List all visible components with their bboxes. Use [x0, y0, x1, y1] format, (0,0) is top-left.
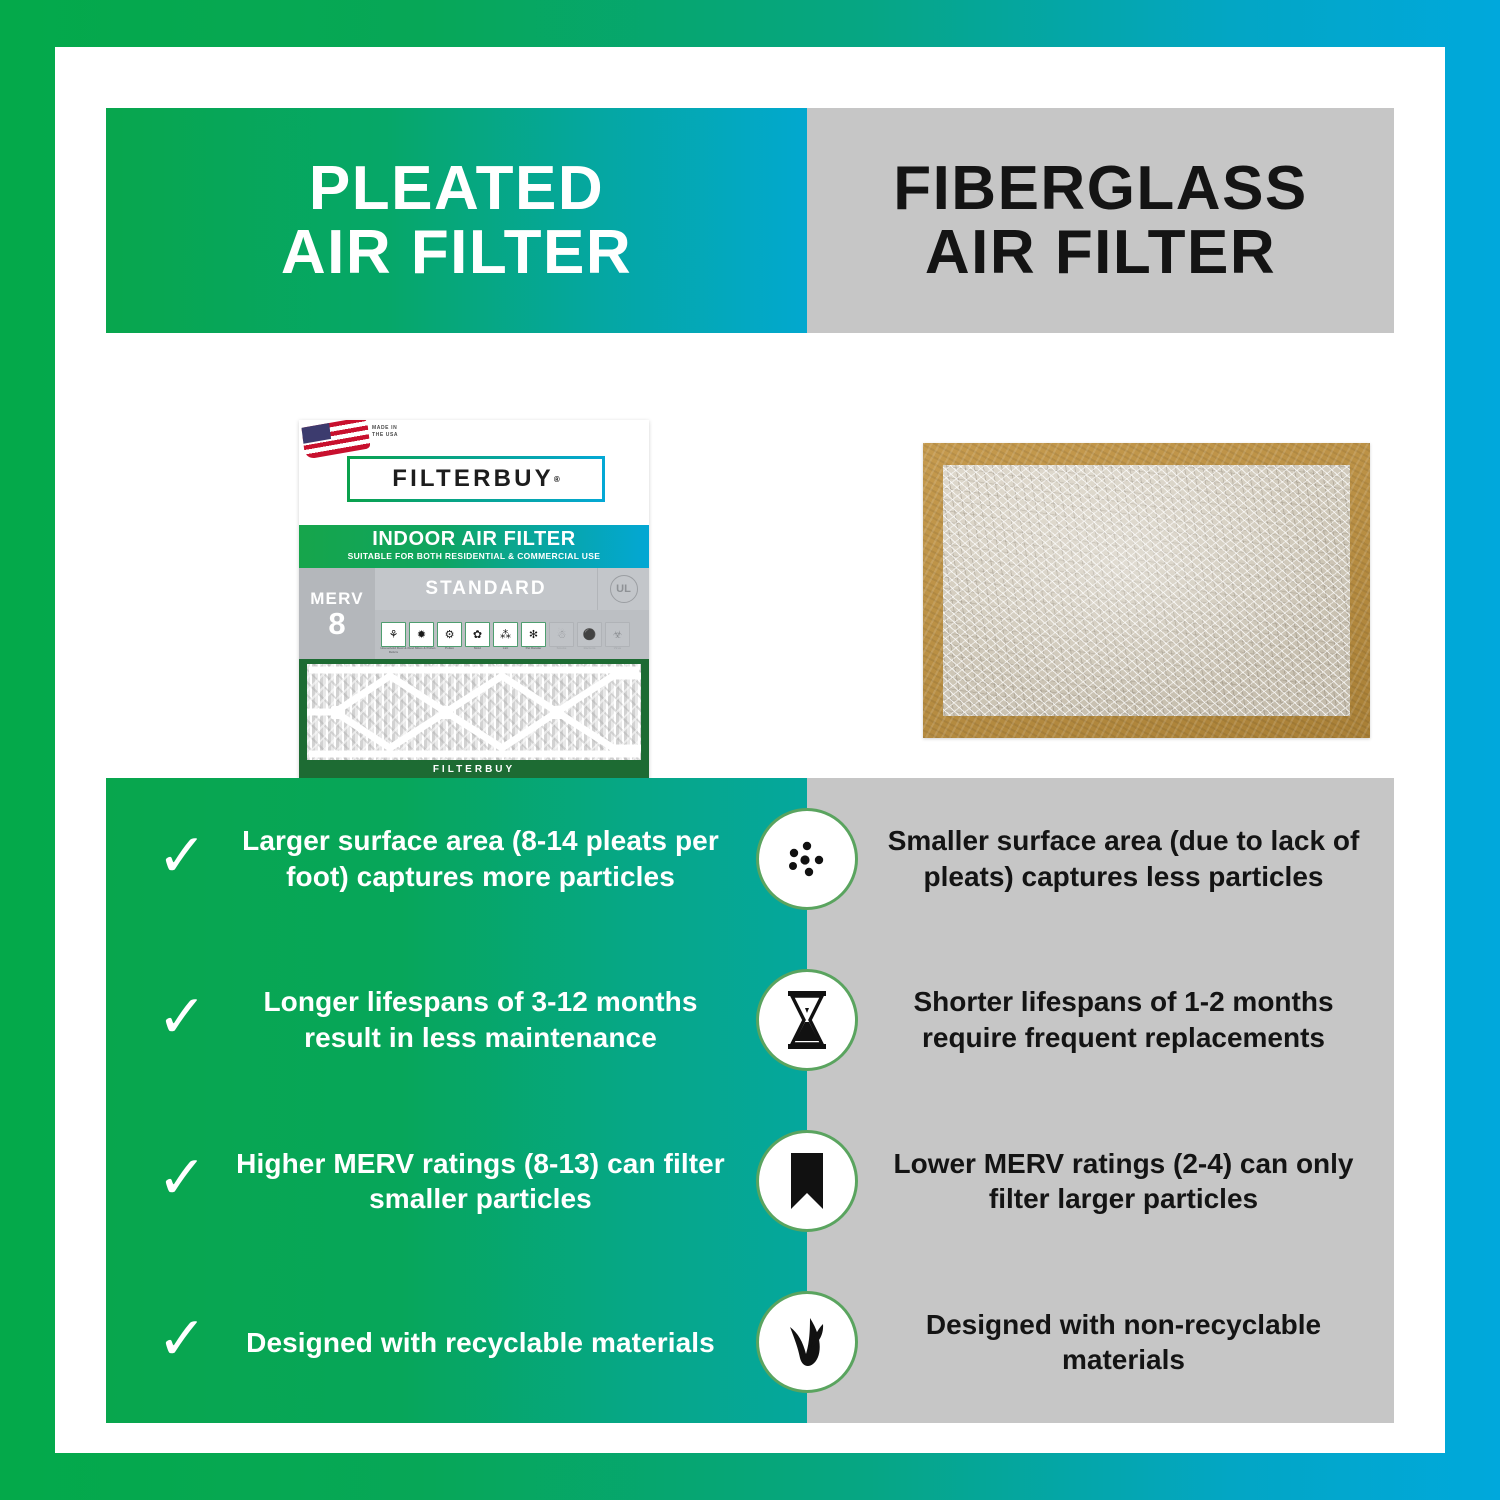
band-subtitle: SUITABLE FOR BOTH RESIDENTIAL & COMMERCI… [299, 551, 649, 561]
feature-icon-strip: ⚘Household Dust & Debris✹Dust Mites & Po… [375, 610, 649, 659]
comparison-right-cell: Shorter lifespans of 1-2 months require … [807, 939, 1394, 1100]
product-images-row: MADE IN THE USA FILTERBUY® INDOOR AIR FI… [106, 333, 1394, 778]
comparison-right-text: Smaller surface area (due to lack of ple… [879, 823, 1368, 894]
comparison-left-text: Larger surface area (8-14 pleats per foo… [228, 823, 793, 894]
comparison-table: ✓Larger surface area (8-14 pleats per fo… [106, 778, 1394, 1423]
fiberglass-mesh [943, 465, 1350, 716]
header-bar: PLEATED AIR FILTER FIBERGLASS AIR FILTER [106, 108, 1394, 333]
header-fiberglass-line2: AIR FILTER [925, 218, 1276, 287]
comparison-right-text: Lower MERV ratings (2-4) can only filter… [879, 1146, 1368, 1217]
ul-certification: UL [597, 568, 649, 610]
comparison-row: ✓Larger surface area (8-14 pleats per fo… [106, 778, 1394, 939]
box-top-section: MADE IN THE USA FILTERBUY® [299, 420, 649, 525]
made-in-usa-text: MADE IN THE USA [372, 425, 398, 439]
feature-icon-label: Bacteria [574, 647, 605, 651]
comparison-right-cell: Designed with non-recyclable materials [807, 1262, 1394, 1423]
merv-value: 8 [328, 609, 345, 638]
grade-label: STANDARD [375, 578, 597, 600]
mold-icon: ✿Mold [465, 622, 490, 647]
comparison-right-text: Shorter lifespans of 1-2 months require … [879, 984, 1368, 1055]
bookmark-icon [756, 1130, 858, 1232]
feature-icon-label: Lint [490, 647, 521, 651]
comparison-row: ✓Higher MERV ratings (8-13) can filter s… [106, 1101, 1394, 1262]
feature-icon-label: Household Dust & Debris [378, 647, 409, 654]
comparison-left-text: Designed with recyclable materials [228, 1325, 793, 1361]
feature-icon-label: Smoke [546, 647, 577, 651]
header-pleated: PLEATED AIR FILTER [106, 108, 807, 333]
grade-row: STANDARD UL [375, 568, 649, 610]
comparison-left-text: Higher MERV ratings (8-13) can filter sm… [228, 1146, 793, 1217]
lattice-support-grid [307, 664, 641, 760]
hourglass-icon [756, 969, 858, 1071]
comparison-row: ✓Designed with recyclable materialsDesig… [106, 1262, 1394, 1423]
comparison-left-cell: ✓Longer lifespans of 3-12 months result … [106, 939, 807, 1100]
infographic-frame: PLEATED AIR FILTER FIBERGLASS AIR FILTER… [55, 47, 1445, 1453]
header-pleated-line1: PLEATED [309, 154, 604, 223]
header-fiberglass-line1: FIBERGLASS [893, 154, 1308, 223]
feature-icon-label: Mold [462, 647, 493, 651]
pet-dander-icon: ✻Pet Dander [521, 622, 546, 647]
checkmark-icon: ✓ [136, 1148, 228, 1208]
comparison-row: ✓Longer lifespans of 3-12 months result … [106, 939, 1394, 1100]
comparison-right-cell: Smaller surface area (due to lack of ple… [807, 778, 1394, 939]
comparison-left-cell: ✓Larger surface area (8-14 pleats per fo… [106, 778, 807, 939]
comparison-left-cell: ✓Designed with recyclable materials [106, 1262, 807, 1423]
checkmark-icon: ✓ [136, 1309, 228, 1369]
feature-icon-label: Dust Mites & Pollen [406, 647, 437, 651]
merv-rating-block: MERV 8 [299, 568, 375, 659]
comparison-right-cell: Lower MERV ratings (2-4) can only filter… [807, 1101, 1394, 1262]
fiberglass-filter-image [923, 443, 1370, 738]
household-dust-debris-icon: ⚘Household Dust & Debris [381, 622, 406, 647]
filterbuy-logo: FILTERBUY® [347, 456, 605, 502]
header-fiberglass: FIBERGLASS AIR FILTER [807, 108, 1394, 333]
comparison-left-text: Longer lifespans of 3-12 months result i… [228, 984, 793, 1055]
lint-icon: ⁂Lint [493, 622, 518, 647]
ul-mark-icon: UL [610, 575, 638, 603]
trademark-symbol: ® [554, 475, 560, 484]
pleated-media-view: FILTERBUY [299, 659, 649, 785]
header-pleated-line2: AIR FILTER [281, 218, 632, 287]
feature-icon-label: Pet Dander [518, 647, 549, 651]
particles-icon [756, 808, 858, 910]
feature-icon-label: Pollen [434, 647, 465, 651]
feature-icon-label: Virus [602, 647, 633, 651]
smoke-icon: ☃Smoke [549, 622, 574, 647]
checkmark-icon: ✓ [136, 826, 228, 886]
band-title: INDOOR AIR FILTER [299, 528, 649, 550]
box-footer-brand: FILTERBUY [307, 764, 641, 775]
virus-icon: ☣Virus [605, 622, 630, 647]
bacteria-icon: ⚫Bacteria [577, 622, 602, 647]
pleated-filter-product-box: MADE IN THE USA FILTERBUY® INDOOR AIR FI… [299, 420, 649, 785]
leaf-icon [756, 1291, 858, 1393]
comparison-left-cell: ✓Higher MERV ratings (8-13) can filter s… [106, 1101, 807, 1262]
spec-bar: MERV 8 STANDARD UL ⚘Household Dust & Deb… [299, 568, 649, 659]
usa-flag-icon [302, 420, 371, 460]
pleated-media-texture [307, 664, 641, 760]
checkmark-icon: ✓ [136, 987, 228, 1047]
comparison-right-text: Designed with non-recyclable materials [879, 1307, 1368, 1378]
pollen-icon: ⚙Pollen [437, 622, 462, 647]
dust-mites-pollen-icon: ✹Dust Mites & Pollen [409, 622, 434, 647]
spec-bar-right: STANDARD UL ⚘Household Dust & Debris✹Dus… [375, 568, 649, 659]
indoor-air-filter-band: INDOOR AIR FILTER SUITABLE FOR BOTH RESI… [299, 525, 649, 568]
